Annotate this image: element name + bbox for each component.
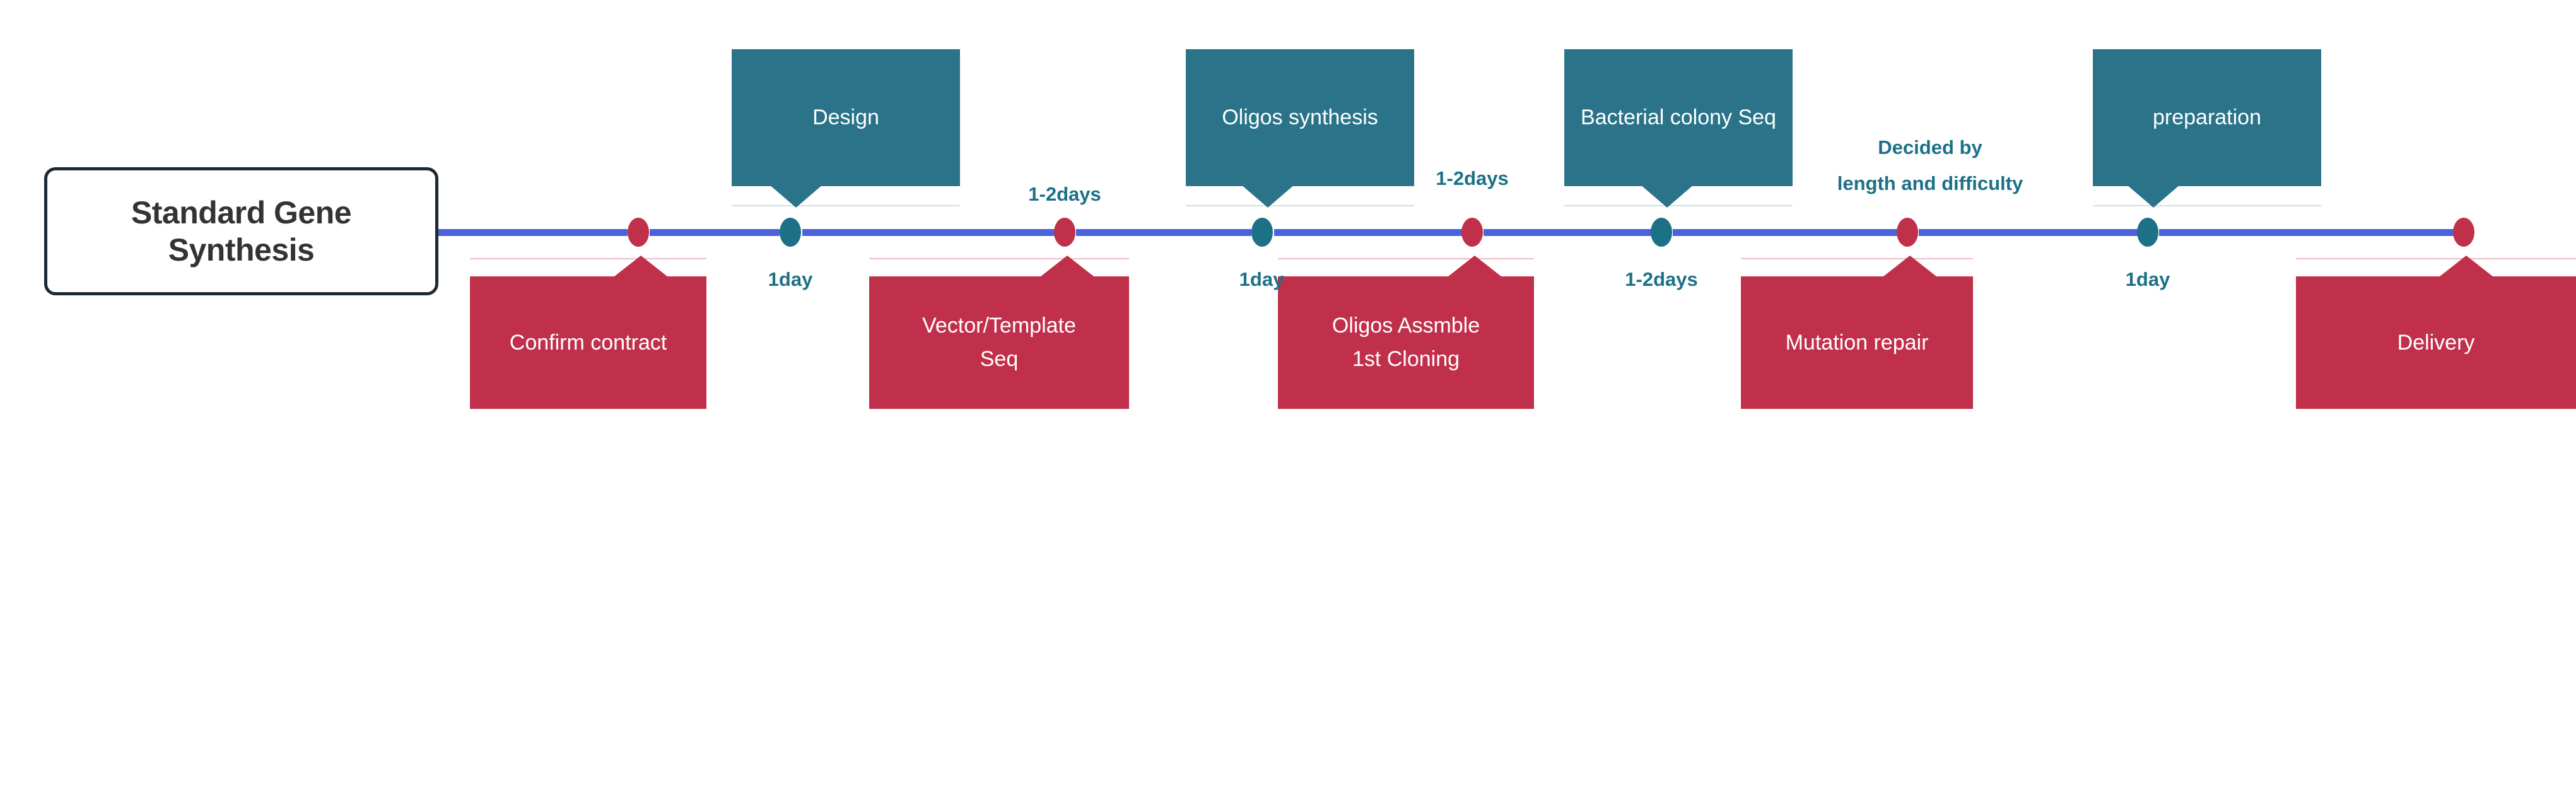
axis-segment-5 [1274,229,1462,236]
axis-segment-7 [1673,229,1897,236]
marker-5-oligos-assemble[interactable] [1461,218,1483,247]
teal-guide-rule-2 [1186,205,1414,206]
axis-segment-4 [1076,229,1251,236]
callout-confirm-contract-tail [614,256,667,276]
timeline-diagram: Standard Gene Synthesis Design Oligos sy… [0,0,2576,802]
marker-4-oligos-synthesis[interactable] [1251,218,1273,247]
duration-label-2: 1-2days [1028,183,1101,206]
duration-label-3: 1day [1239,268,1284,291]
callout-mutation-repair[interactable]: Mutation repair [1741,276,1973,409]
callout-vector-template-seq[interactable]: Vector/Template Seq [869,276,1129,409]
callout-bacterial-colony-seq[interactable]: Bacterial colony Seq [1564,49,1793,186]
axis-segment-6 [1484,229,1651,236]
teal-guide-rule-1 [732,205,960,206]
callout-confirm-contract-label: Confirm contract [506,326,670,360]
callout-bacterial-colony-seq-tail [1641,185,1694,208]
duration-label-5: 1-2days [1625,268,1697,291]
callout-oligos-synthesis-tail [1241,185,1294,208]
callout-mutation-repair-tail [1883,256,1936,276]
axis-segment-2 [650,229,780,236]
callout-preparation-label: preparation [2149,101,2265,134]
axis-segment-1 [438,229,628,236]
callout-oligos-synthesis-label: Oligos synthesis [1218,101,1382,134]
red-guide-rule-1 [470,258,706,259]
marker-6-bacterial-colony[interactable] [1651,218,1672,247]
marker-8-preparation[interactable] [2137,218,2158,247]
callout-vector-template-seq-label: Vector/Template Seq [918,309,1080,375]
marker-9-delivery[interactable] [2453,218,2474,247]
duration-label-6: 1day [2126,268,2170,291]
axis-segment-9 [2159,229,2454,236]
axis-segment-3 [802,229,1055,236]
callout-design-tail [770,185,823,208]
callout-preparation-tail [2127,185,2180,208]
red-guide-rule-4 [1741,258,1973,259]
marker-3-vector-template[interactable] [1054,218,1075,247]
callout-mutation-repair-label: Mutation repair [1782,326,1933,360]
annotation-decided-by-length-and-difficulty: Decided by length and difficulty [1837,129,2023,202]
duration-label-4: 1-2days [1436,167,1508,190]
duration-label-1: 1day [768,268,813,291]
callout-bacterial-colony-seq-label: Bacterial colony Seq [1577,101,1780,134]
callout-delivery-label: Delivery [2394,326,2479,360]
callout-vector-template-tail [1041,256,1094,276]
root-title-box: Standard Gene Synthesis [44,167,438,295]
red-guide-rule-5 [2296,258,2576,259]
callout-design-label: Design [809,101,883,134]
marker-1-confirm-contract[interactable] [628,218,649,247]
marker-2-design[interactable] [780,218,801,247]
axis-segment-8 [1919,229,2138,236]
callout-oligos-assemble-tail [1448,256,1501,276]
callout-oligos-assemble-1st-cloning[interactable]: Oligos Assmble 1st Cloning [1278,276,1534,409]
callout-delivery-tail [2440,256,2493,276]
callout-delivery[interactable]: Delivery [2296,276,2576,409]
callout-preparation[interactable]: preparation [2093,49,2321,186]
page-title: Standard Gene Synthesis [131,194,351,269]
callout-confirm-contract[interactable]: Confirm contract [470,276,706,409]
callout-oligos-synthesis[interactable]: Oligos synthesis [1186,49,1414,186]
callout-oligos-assemble-1st-cloning-label: Oligos Assmble 1st Cloning [1328,309,1484,375]
marker-7-mutation-repair[interactable] [1897,218,1918,247]
callout-design[interactable]: Design [732,49,960,186]
